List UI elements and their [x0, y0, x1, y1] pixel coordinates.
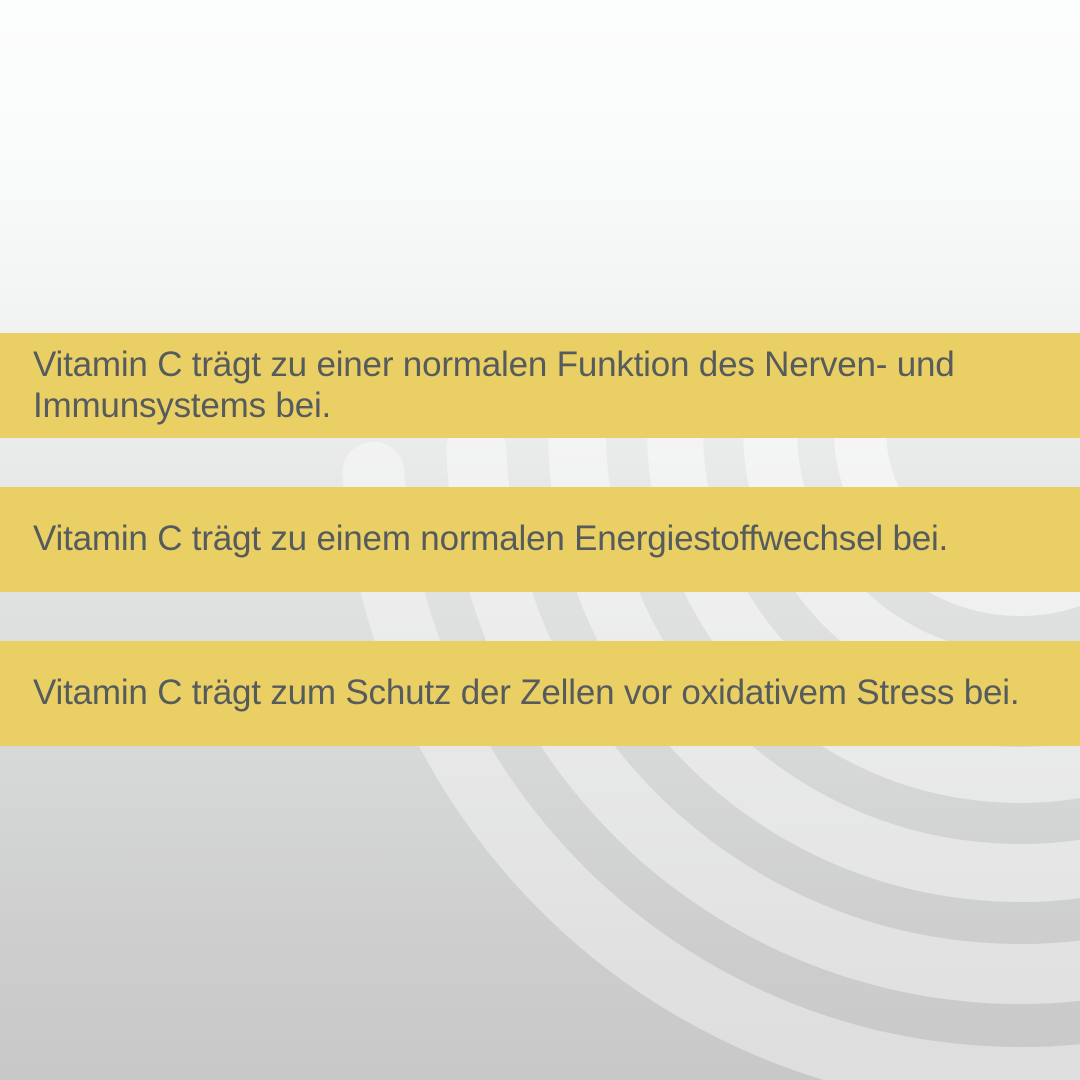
claims-card: Vitamin C trägt zu einer normalen Funkti… [0, 0, 1080, 1080]
claim-band-2: Vitamin C trägt zu einem normalen Energi… [0, 487, 1080, 592]
claim-band-1: Vitamin C trägt zu einer normalen Funkti… [0, 333, 1080, 438]
claim-text-2: Vitamin C trägt zu einem normalen Energi… [33, 519, 948, 559]
claim-band-3: Vitamin C trägt zum Schutz der Zellen vo… [0, 641, 1080, 746]
claim-text-1: Vitamin C trägt zu einer normalen Funkti… [33, 345, 955, 426]
claim-text-3: Vitamin C trägt zum Schutz der Zellen vo… [33, 673, 1019, 713]
